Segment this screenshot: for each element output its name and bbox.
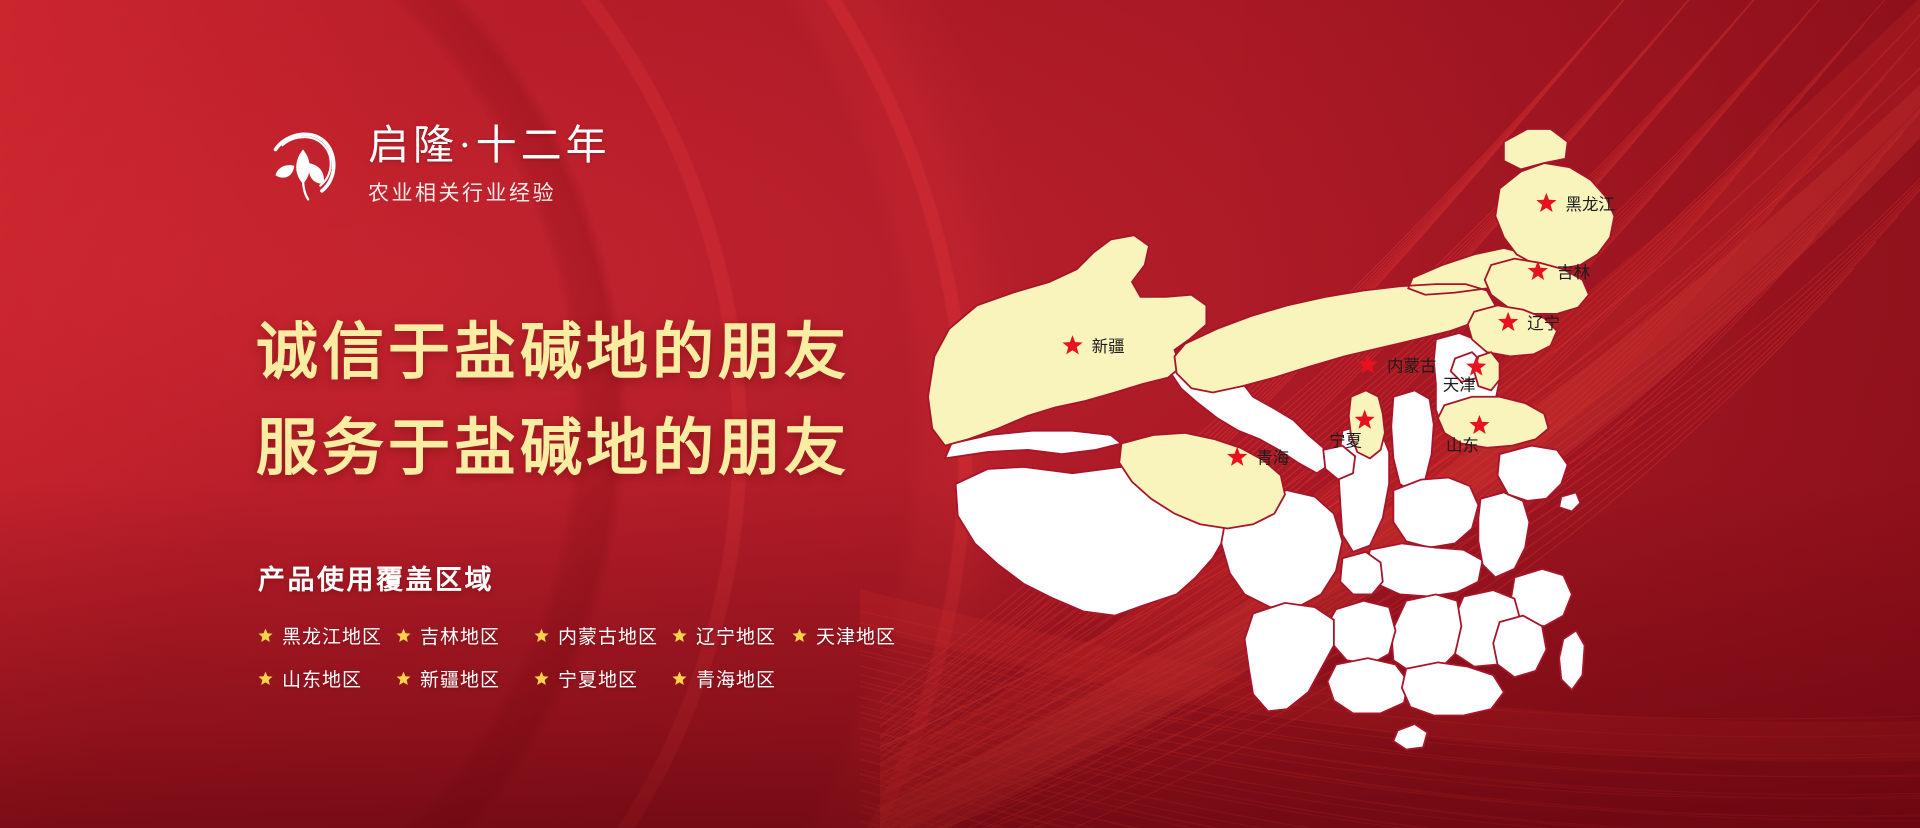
coverage-region-item[interactable]: 内蒙古地区 <box>534 622 672 649</box>
star-icon <box>672 671 687 686</box>
coverage-region-label: 山东地区 <box>282 665 362 692</box>
brand-subtitle: 农业相关行业经验 <box>368 177 611 207</box>
star-icon <box>672 628 687 643</box>
star-icon <box>396 671 411 686</box>
map-star-icon <box>1358 354 1378 373</box>
coverage-region-label: 黑龙江地区 <box>282 622 382 649</box>
map-marker[interactable]: 内蒙古 <box>1358 354 1437 375</box>
headline-line-1: 诚信于盐碱地的朋友 <box>256 318 850 390</box>
coverage-region-label: 天津地区 <box>816 622 896 649</box>
map-province-label: 吉林 <box>1557 264 1590 282</box>
coverage-region-item[interactable]: 新疆地区 <box>396 665 534 692</box>
star-icon <box>534 628 549 643</box>
headline-line-2: 服务于盐碱地的朋友 <box>256 414 850 486</box>
brand-title: 启隆·十二年 <box>368 123 611 167</box>
star-icon <box>534 671 549 686</box>
star-icon <box>258 628 273 643</box>
star-icon <box>792 628 807 643</box>
coverage-region-label: 青海地区 <box>696 665 776 692</box>
headline-block: 诚信于盐碱地的朋友 服务于盐碱地的朋友 <box>256 318 850 486</box>
coverage-region-item[interactable]: 青海地区 <box>672 665 792 692</box>
coverage-block: 产品使用覆盖区域 黑龙江地区吉林地区内蒙古地区辽宁地区天津地区山东地区新疆地区宁… <box>258 558 918 692</box>
map-province-label: 天津 <box>1443 376 1476 394</box>
promo-banner: 启隆·十二年 农业相关行业经验 诚信于盐碱地的朋友 服务于盐碱地的朋友 产品使用… <box>0 0 1920 828</box>
star-icon <box>396 628 411 643</box>
map-province-label: 黑龙江 <box>1566 196 1615 214</box>
coverage-title: 产品使用覆盖区域 <box>258 558 918 597</box>
coverage-region-grid: 黑龙江地区吉林地区内蒙古地区辽宁地区天津地区山东地区新疆地区宁夏地区青海地区 <box>258 622 918 692</box>
coverage-region-item[interactable]: 宁夏地区 <box>534 665 672 692</box>
lotus-leaf-circle-icon <box>260 122 346 208</box>
coverage-region-label: 吉林地区 <box>420 622 500 649</box>
map-province-label: 新疆 <box>1092 338 1125 356</box>
coverage-region-item[interactable]: 天津地区 <box>792 622 912 649</box>
brand-logo-block: 启隆·十二年 农业相关行业经验 <box>260 122 611 208</box>
coverage-region-label: 宁夏地区 <box>558 665 638 692</box>
coverage-region-item[interactable]: 辽宁地区 <box>672 622 792 649</box>
coverage-region-label: 新疆地区 <box>420 665 500 692</box>
coverage-region-label: 辽宁地区 <box>696 622 776 649</box>
coverage-region-label: 内蒙古地区 <box>558 622 658 649</box>
coverage-region-item[interactable]: 山东地区 <box>258 665 396 692</box>
china-map-container: 黑龙江吉林辽宁天津山东内蒙古宁夏新疆青海 <box>905 78 1665 758</box>
map-province-label: 宁夏 <box>1329 433 1362 451</box>
star-icon <box>258 671 273 686</box>
map-province-label: 青海 <box>1256 450 1289 468</box>
map-province-label: 内蒙古 <box>1387 357 1436 375</box>
map-province-label: 山东 <box>1446 437 1479 455</box>
coverage-region-item[interactable]: 吉林地区 <box>396 622 534 649</box>
coverage-region-item[interactable]: 黑龙江地区 <box>258 622 396 649</box>
china-coverage-map: 黑龙江吉林辽宁天津山东内蒙古宁夏新疆青海 <box>905 78 1665 758</box>
map-province-label: 辽宁 <box>1527 315 1560 333</box>
